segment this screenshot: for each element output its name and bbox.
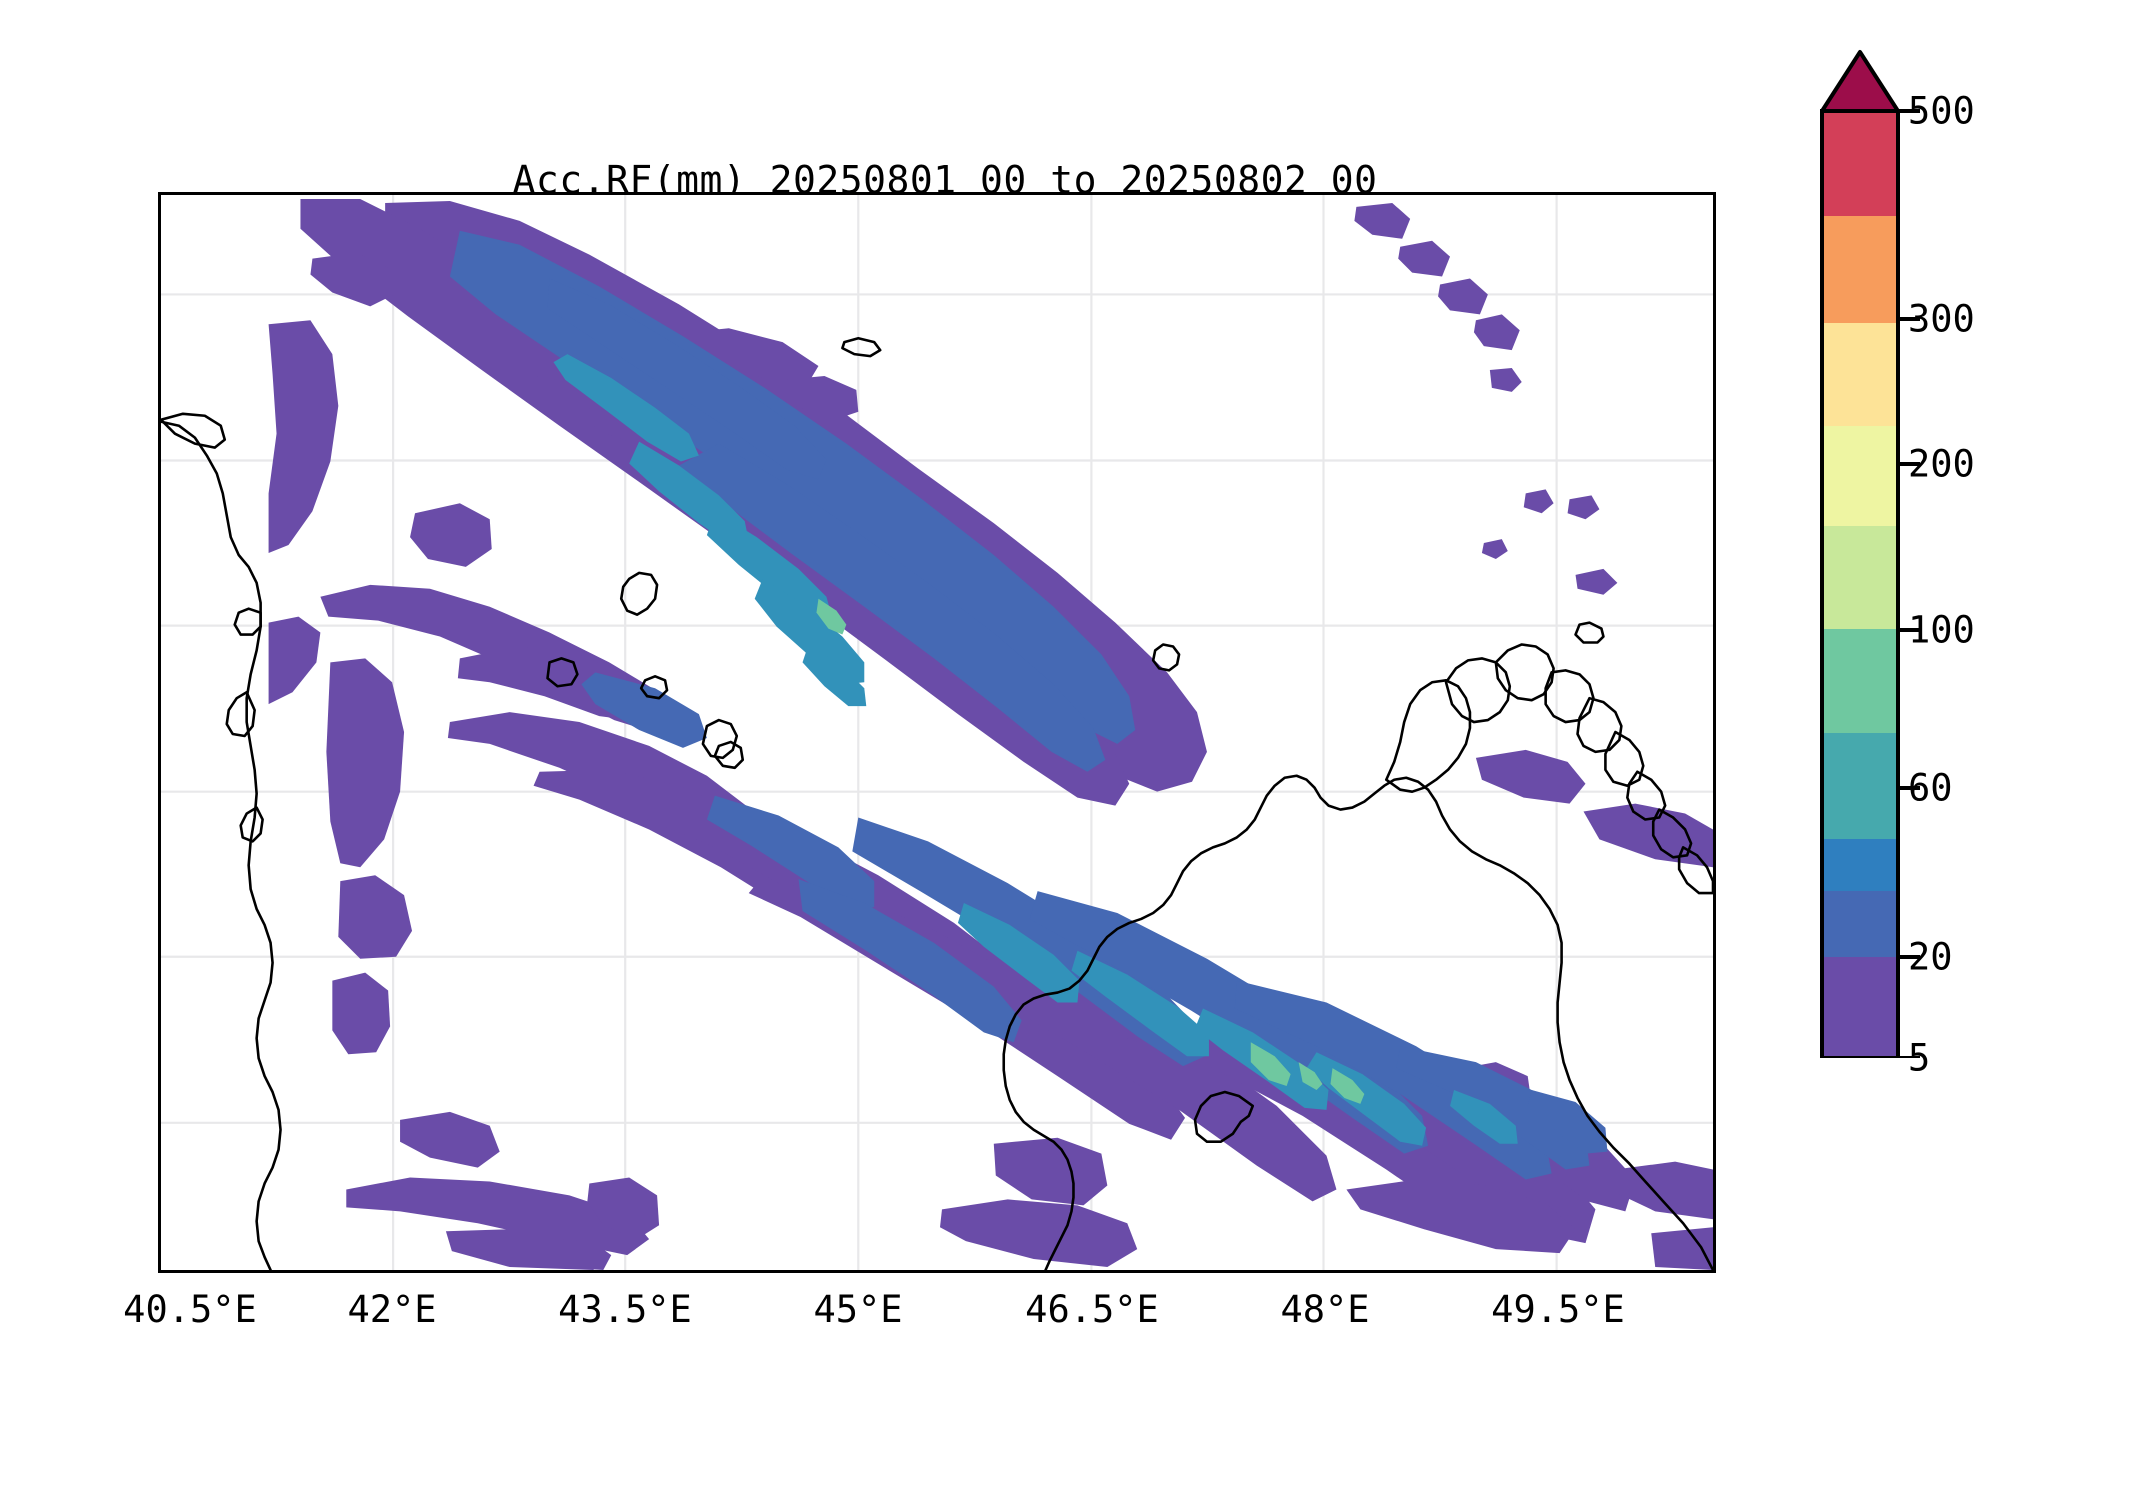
- xtick-label-46-5E: 46.5°E: [1025, 1288, 1159, 1331]
- colorbar-ticks: [1898, 111, 1920, 1058]
- xtick-label-40-5E: 40.5°E: [123, 1288, 257, 1331]
- precipitation-contours: [269, 199, 1713, 1270]
- colorbar-tick-5: 5: [1908, 1037, 1930, 1080]
- colorbar-gradient: [1816, 48, 2136, 1058]
- xtick-label-43-5E: 43.5°E: [558, 1288, 692, 1331]
- precipitation-map: [161, 195, 1713, 1270]
- colorbar-band-detail: [1822, 839, 1898, 1058]
- colorbar-tick-300: 300: [1908, 298, 1975, 341]
- colorbar-tick-60: 60: [1908, 767, 1953, 810]
- colorbar: 500 300 200 100 60 20 5: [1816, 48, 2136, 1058]
- colorbar-tick-20: 20: [1908, 936, 1953, 979]
- xtick-label-48E: 48°E: [1280, 1288, 1369, 1331]
- colorbar-tick-200: 200: [1908, 443, 1975, 486]
- colorbar-extend-arrow: [1822, 52, 1898, 111]
- xtick-label-49-5E: 49.5°E: [1491, 1288, 1625, 1331]
- colorbar-tick-500: 500: [1908, 90, 1975, 133]
- colorbar-tick-100: 100: [1908, 609, 1975, 652]
- xtick-label-45E: 45°E: [813, 1288, 902, 1331]
- xtick-label-42E: 42°E: [347, 1288, 436, 1331]
- map-plot-area: [158, 192, 1716, 1273]
